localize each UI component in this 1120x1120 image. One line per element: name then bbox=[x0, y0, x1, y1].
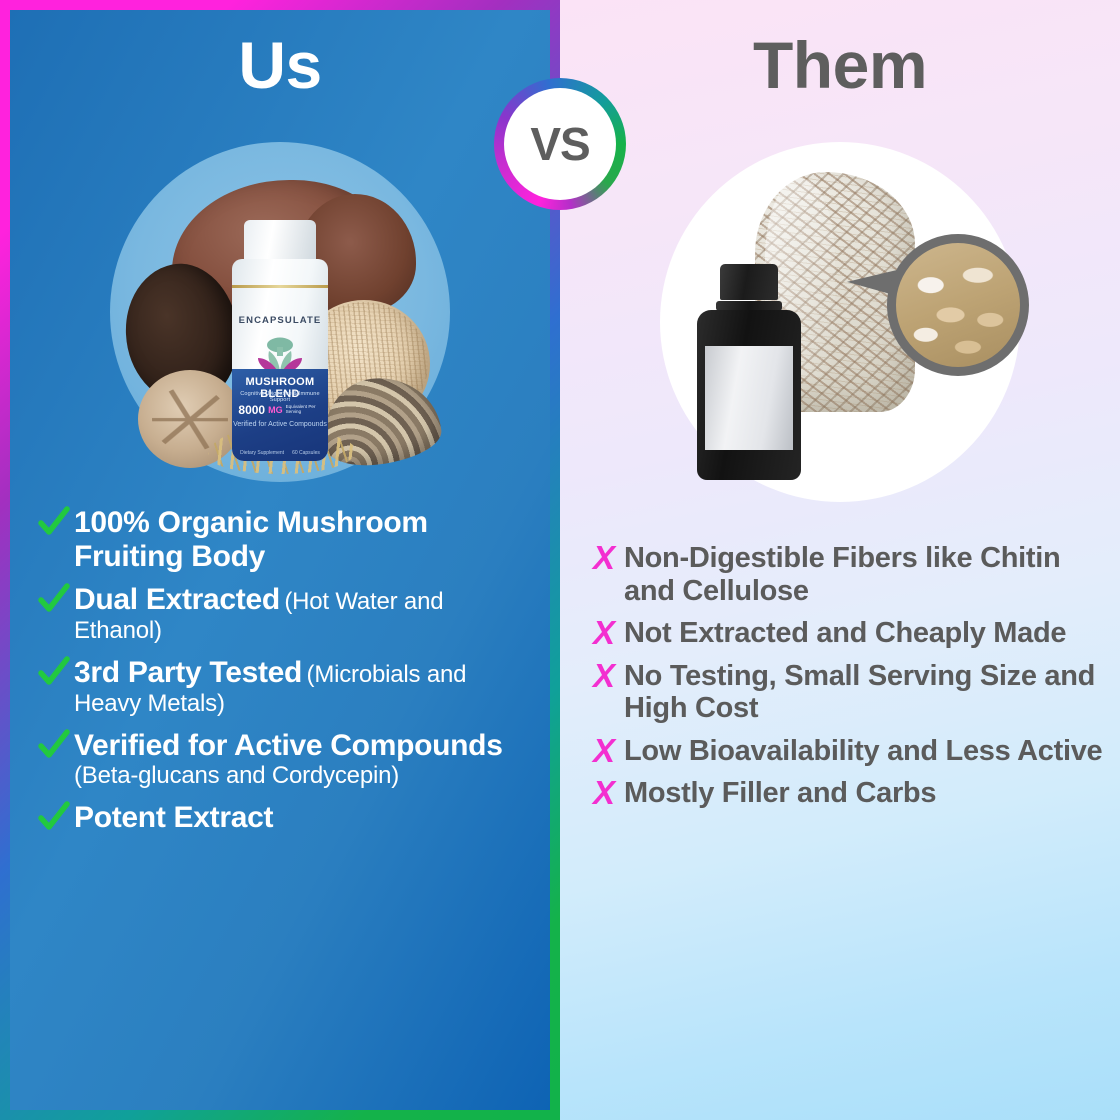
magenta-x-icon: X bbox=[584, 777, 624, 808]
bottle-footer-left: Dietary Supplement bbox=[240, 450, 284, 456]
generic-bottle-body bbox=[697, 310, 801, 480]
list-item-text: Potent Extract bbox=[74, 801, 528, 835]
us-panel: Us ENCAPSULATE bbox=[0, 0, 560, 1120]
bottle-footer-right: 60 Capsules bbox=[292, 450, 320, 456]
list-item-text: Low Bioavailability and Less Active bbox=[624, 735, 1104, 767]
us-heading: Us bbox=[10, 32, 550, 98]
vs-label: VS bbox=[530, 121, 589, 167]
bottle-cap bbox=[244, 220, 316, 262]
list-item-text: Verified for Active Compounds (Beta-gluc… bbox=[74, 729, 528, 791]
magenta-x-icon: X bbox=[584, 660, 624, 691]
them-panel: Them X Non-Digestible Fibers like bbox=[560, 0, 1120, 1120]
bottle-blend-subtitle: Cognitive, Digestive & Immune Support bbox=[232, 391, 328, 403]
list-item: Verified for Active Compounds (Beta-gluc… bbox=[34, 729, 528, 791]
bottle-label-panel: MUSHROOM BLEND Cognitive, Digestive & Im… bbox=[232, 369, 328, 461]
x-glyph: X bbox=[593, 735, 615, 766]
green-check-icon bbox=[34, 729, 74, 765]
list-item-main: Non-Digestible Fibers like Chitin and Ce… bbox=[624, 542, 1060, 606]
bottle-brand-name: ENCAPSULATE bbox=[232, 315, 328, 326]
us-panel-inner: Us ENCAPSULATE bbox=[10, 10, 550, 1110]
bottle-footer: Dietary Supplement 60 Capsules bbox=[232, 450, 328, 456]
list-item-main: No Testing, Small Serving Size and High … bbox=[624, 660, 1095, 724]
x-glyph: X bbox=[593, 617, 615, 648]
list-item-text: No Testing, Small Serving Size and High … bbox=[624, 660, 1104, 725]
list-item-main: 100% Organic Mushroom Fruiting Body bbox=[74, 506, 428, 573]
list-item-main: Dual Extracted bbox=[74, 583, 280, 616]
list-item-text: Dual Extracted (Hot Water and Ethanol) bbox=[74, 583, 528, 646]
bottle-dose-unit: MG bbox=[268, 405, 283, 415]
list-item: X Mostly Filler and Carbs bbox=[584, 777, 1104, 809]
list-item-main: Not Extracted and Cheaply Made bbox=[624, 617, 1066, 649]
list-item: X Low Bioavailability and Less Active bbox=[584, 735, 1104, 767]
generic-bottle-blank-label bbox=[705, 346, 793, 450]
bottle-dose-amount: 8000 bbox=[238, 403, 265, 417]
list-item-main: Verified for Active Compounds bbox=[74, 729, 503, 762]
list-item: 100% Organic Mushroom Fruiting Body bbox=[34, 506, 528, 573]
green-check-icon bbox=[34, 583, 74, 619]
list-item-text: Not Extracted and Cheaply Made bbox=[624, 617, 1104, 649]
list-item: Dual Extracted (Hot Water and Ethanol) bbox=[34, 583, 528, 646]
green-check-icon bbox=[34, 656, 74, 692]
them-generic-bottle bbox=[697, 264, 801, 480]
list-item-text: 3rd Party Tested (Microbials and Heavy M… bbox=[74, 656, 528, 719]
us-supplement-bottle: ENCAPSULATE MUSHROOM BLEND bbox=[232, 220, 328, 461]
them-product-photo bbox=[605, 142, 1075, 512]
magenta-x-icon: X bbox=[584, 542, 624, 573]
green-check-icon bbox=[34, 506, 74, 542]
list-item: X Not Extracted and Cheaply Made bbox=[584, 617, 1104, 649]
list-item: X Non-Digestible Fibers like Chitin and … bbox=[584, 542, 1104, 607]
list-item-text: 100% Organic Mushroom Fruiting Body bbox=[74, 506, 528, 573]
list-item-main: Low Bioavailability and Less Active bbox=[624, 735, 1102, 767]
list-item: Potent Extract bbox=[34, 801, 528, 837]
bottle-body: ENCAPSULATE MUSHROOM BLEND bbox=[232, 259, 328, 461]
list-item-main: Mostly Filler and Carbs bbox=[624, 777, 936, 809]
bottle-verified-line: Verified for Active Compounds bbox=[232, 421, 328, 428]
magenta-x-icon: X bbox=[584, 617, 624, 648]
list-item-text: Non-Digestible Fibers like Chitin and Ce… bbox=[624, 542, 1104, 607]
x-glyph: X bbox=[593, 777, 615, 808]
bottle-dose-note: Equivalent Per Serving bbox=[286, 405, 322, 415]
us-benefits-list: 100% Organic Mushroom Fruiting Body Dual… bbox=[10, 506, 550, 837]
list-item-sub: (Beta-glucans and Cordycepin) bbox=[74, 762, 399, 789]
magnified-mycelium-circle bbox=[887, 234, 1029, 376]
bottle-gold-stripe bbox=[232, 285, 328, 288]
bottle-dose-row: 8000 MG Equivalent Per Serving bbox=[232, 403, 328, 417]
magenta-x-icon: X bbox=[584, 735, 624, 766]
comparison-infographic: Us ENCAPSULATE bbox=[0, 0, 1120, 1120]
generic-bottle-cap bbox=[720, 264, 778, 300]
them-heading: Them bbox=[560, 32, 1120, 98]
them-drawbacks-list: X Non-Digestible Fibers like Chitin and … bbox=[560, 542, 1120, 809]
x-glyph: X bbox=[593, 660, 615, 691]
vs-badge-icon: VS bbox=[494, 78, 626, 210]
x-glyph: X bbox=[593, 542, 615, 573]
green-check-icon bbox=[34, 801, 74, 837]
us-product-photo: ENCAPSULATE MUSHROOM BLEND bbox=[60, 142, 500, 492]
list-item-text: Mostly Filler and Carbs bbox=[624, 777, 1104, 809]
list-item: 3rd Party Tested (Microbials and Heavy M… bbox=[34, 656, 528, 719]
vs-badge-inner: VS bbox=[504, 88, 616, 200]
list-item-main: 3rd Party Tested bbox=[74, 656, 302, 689]
list-item: X No Testing, Small Serving Size and Hig… bbox=[584, 660, 1104, 725]
list-item-main: Potent Extract bbox=[74, 801, 273, 834]
